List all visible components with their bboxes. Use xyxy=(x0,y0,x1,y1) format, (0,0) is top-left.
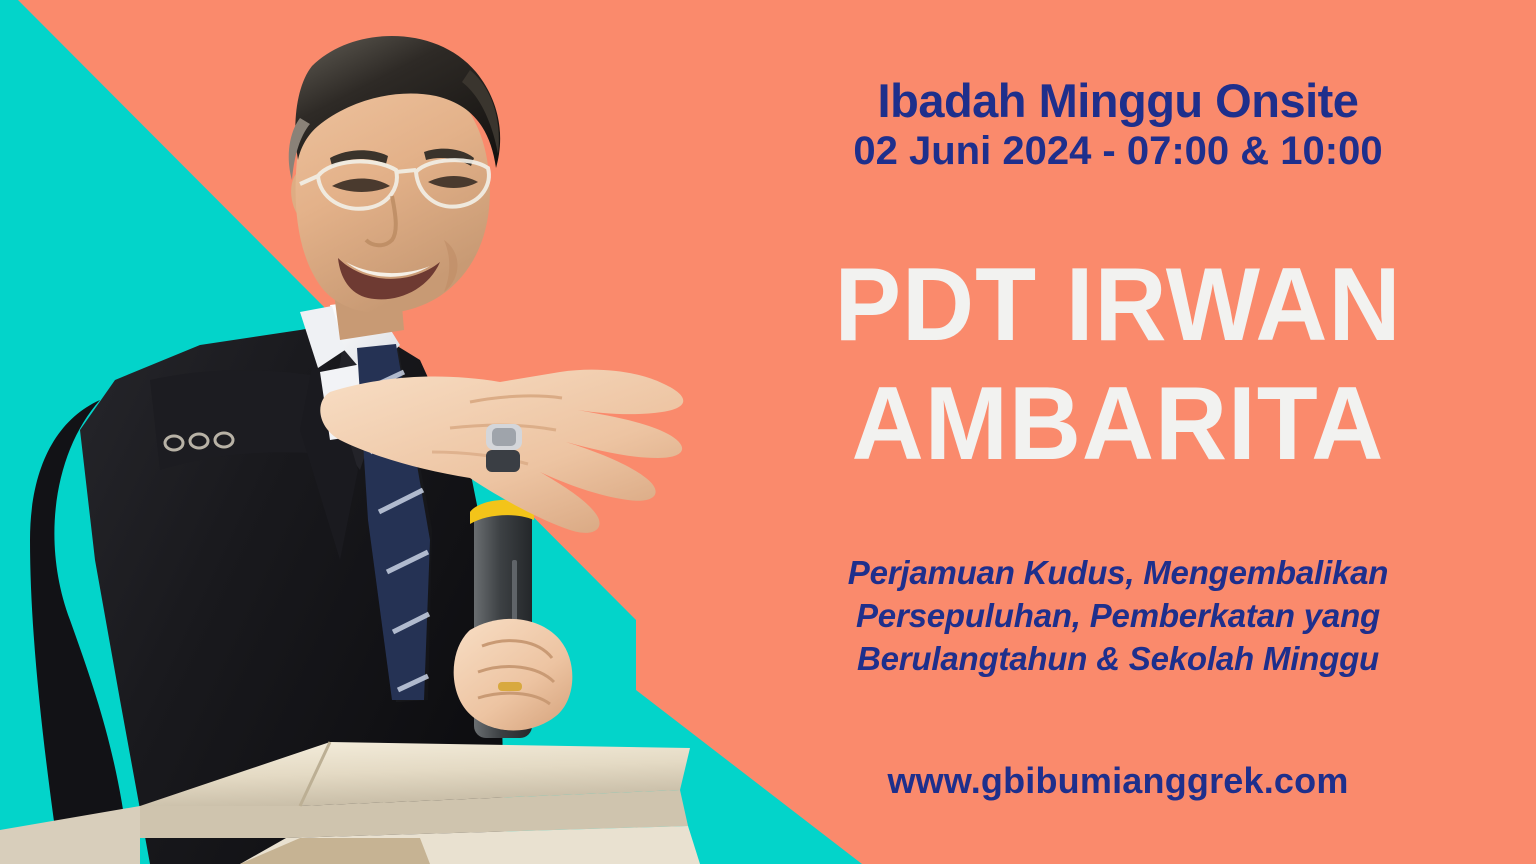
service-theme-line-2: Persepuluhan, Pemberkatan yang xyxy=(728,595,1508,638)
service-title: Ibadah Minggu Onsite xyxy=(700,76,1536,127)
speaker-name-line-1: PDT IRWAN xyxy=(717,246,1520,365)
service-theme: Perjamuan Kudus, Mengembalikan Persepulu… xyxy=(728,552,1508,681)
event-poster: Ibadah Minggu Onsite 02 Juni 2024 - 07:0… xyxy=(0,0,1536,864)
service-datetime: 02 Juni 2024 - 07:00 & 10:00 xyxy=(700,127,1536,176)
speaker-lower-hand xyxy=(454,619,573,731)
poster-text-column: Ibadah Minggu Onsite 02 Juni 2024 - 07:0… xyxy=(700,0,1536,864)
service-theme-line-3: Berulangtahun & Sekolah Minggu xyxy=(728,638,1508,681)
service-header: Ibadah Minggu Onsite 02 Juni 2024 - 07:0… xyxy=(700,76,1536,176)
website-url[interactable]: www.gbibumianggrek.com xyxy=(700,760,1536,802)
speaker-photo xyxy=(0,0,780,864)
speaker-name-line-2: AMBARITA xyxy=(717,365,1520,484)
speaker-name: PDT IRWAN AMBARITA xyxy=(700,246,1536,483)
finger-ring xyxy=(486,424,522,472)
service-theme-line-1: Perjamuan Kudus, Mengembalikan xyxy=(728,552,1508,595)
speaker-head xyxy=(289,36,500,340)
